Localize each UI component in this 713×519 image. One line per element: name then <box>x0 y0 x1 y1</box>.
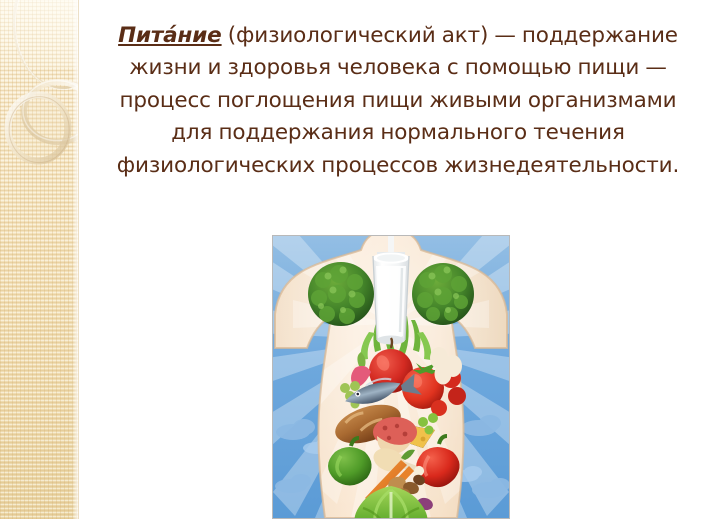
presentation-slide: Питáние (физиологический акт) — поддержа… <box>0 0 713 519</box>
decorative-sidebar <box>0 0 79 519</box>
broccoli-left <box>308 262 374 326</box>
definition-term: Питáние <box>118 23 221 48</box>
sidebar-divider-rule <box>78 0 79 519</box>
nutrition-illustration <box>272 235 510 519</box>
sidebar-rings-decoration <box>0 0 79 519</box>
illustration-canvas <box>273 236 509 518</box>
torso-with-food-graphic <box>273 236 509 518</box>
glass-of-milk <box>373 236 409 345</box>
slide-body-text: Питáние (физиологический акт) — поддержа… <box>97 20 699 182</box>
broccoli-right <box>412 263 474 325</box>
